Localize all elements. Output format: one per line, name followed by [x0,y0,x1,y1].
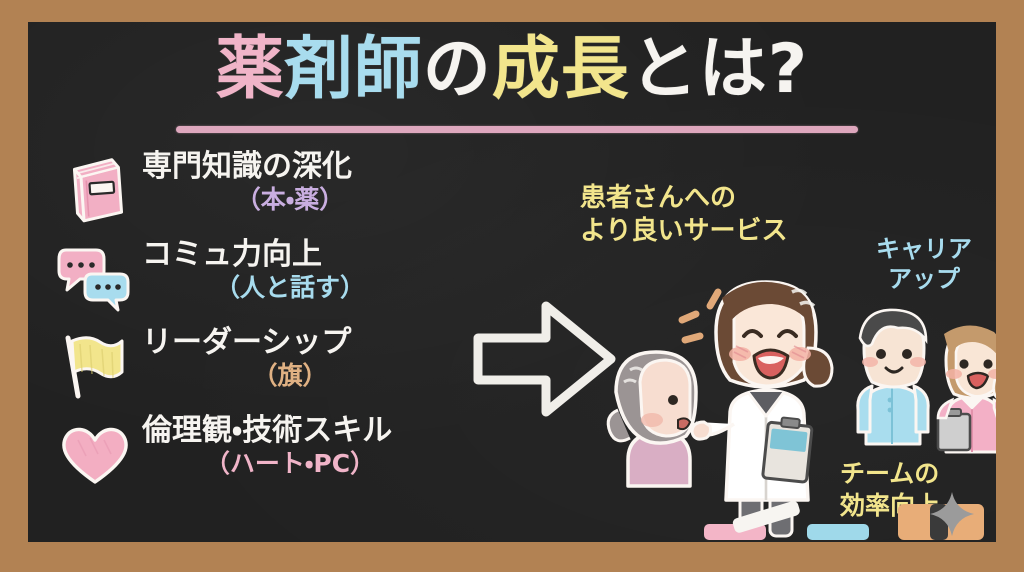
list-item-label: コミュ力向上 [142,238,460,272]
skills-list: 専門知識の深化 （本・薬） [42,150,462,502]
outcome-label-career: キャリア アップ [876,234,972,294]
title-underline [176,126,858,133]
outcome-label-service: 患者さんへの より良いサービス [580,182,787,248]
book-icon [56,156,134,226]
list-item-sublabel: （ハート・PC） [142,448,460,479]
team-members-illustration [850,304,996,460]
team-member-female [938,325,996,452]
chalk-blue [807,524,869,540]
chalk-tray [28,496,996,542]
list-item-label: 倫理観・技術スキル [142,414,460,448]
patient-figure [608,352,696,486]
chalkboard-surface: 薬剤師の成長とは? [28,22,996,542]
sparkle-icon [930,492,974,536]
page-title: 薬剤師の成長とは? [28,34,996,105]
outcome-service-line1: 患者さんへの [580,182,787,215]
chalkboard-frame: 薬剤師の成長とは? [0,0,1024,572]
speech-bubbles-icon [56,244,134,314]
list-item-sublabel: （人と話す） [142,272,460,303]
team-member-male [858,310,928,444]
chalk-white [732,500,801,534]
outcome-service-line2: より良いサービス [580,215,787,248]
list-item-sublabel: （本・薬） [142,184,460,215]
list-item: リーダーシップ （旗） [42,326,462,414]
list-item-text: コミュ力向上 （人と話す） [142,238,460,303]
list-item-text: リーダーシップ （旗） [142,326,460,391]
list-item: 倫理観・技術スキル （ハート・PC） [42,414,462,502]
list-item-label: 専門知識の深化 [142,150,460,184]
title-segment-4: 成長 [492,34,630,105]
title-segment-2: 剤師 [285,34,423,105]
flag-icon [56,332,134,402]
title-segment-3: の [423,34,492,105]
list-item: 専門知識の深化 （本・薬） [42,150,462,238]
title-segment-5: とは? [630,34,808,105]
heart-icon [56,420,134,490]
list-item-text: 専門知識の深化 （本・薬） [142,150,460,215]
list-item-text: 倫理観・技術スキル （ハート・PC） [142,414,460,479]
list-item: コミュ力向上 （人と話す） [42,238,462,326]
outcome-team-line1: チームの [840,458,940,490]
outcome-career-line1: キャリア [876,234,972,264]
title-segment-1: 薬 [216,34,285,105]
list-item-label: リーダーシップ [142,326,460,360]
outcome-career-line2: アップ [876,264,972,294]
list-item-sublabel: （旗） [142,360,460,391]
